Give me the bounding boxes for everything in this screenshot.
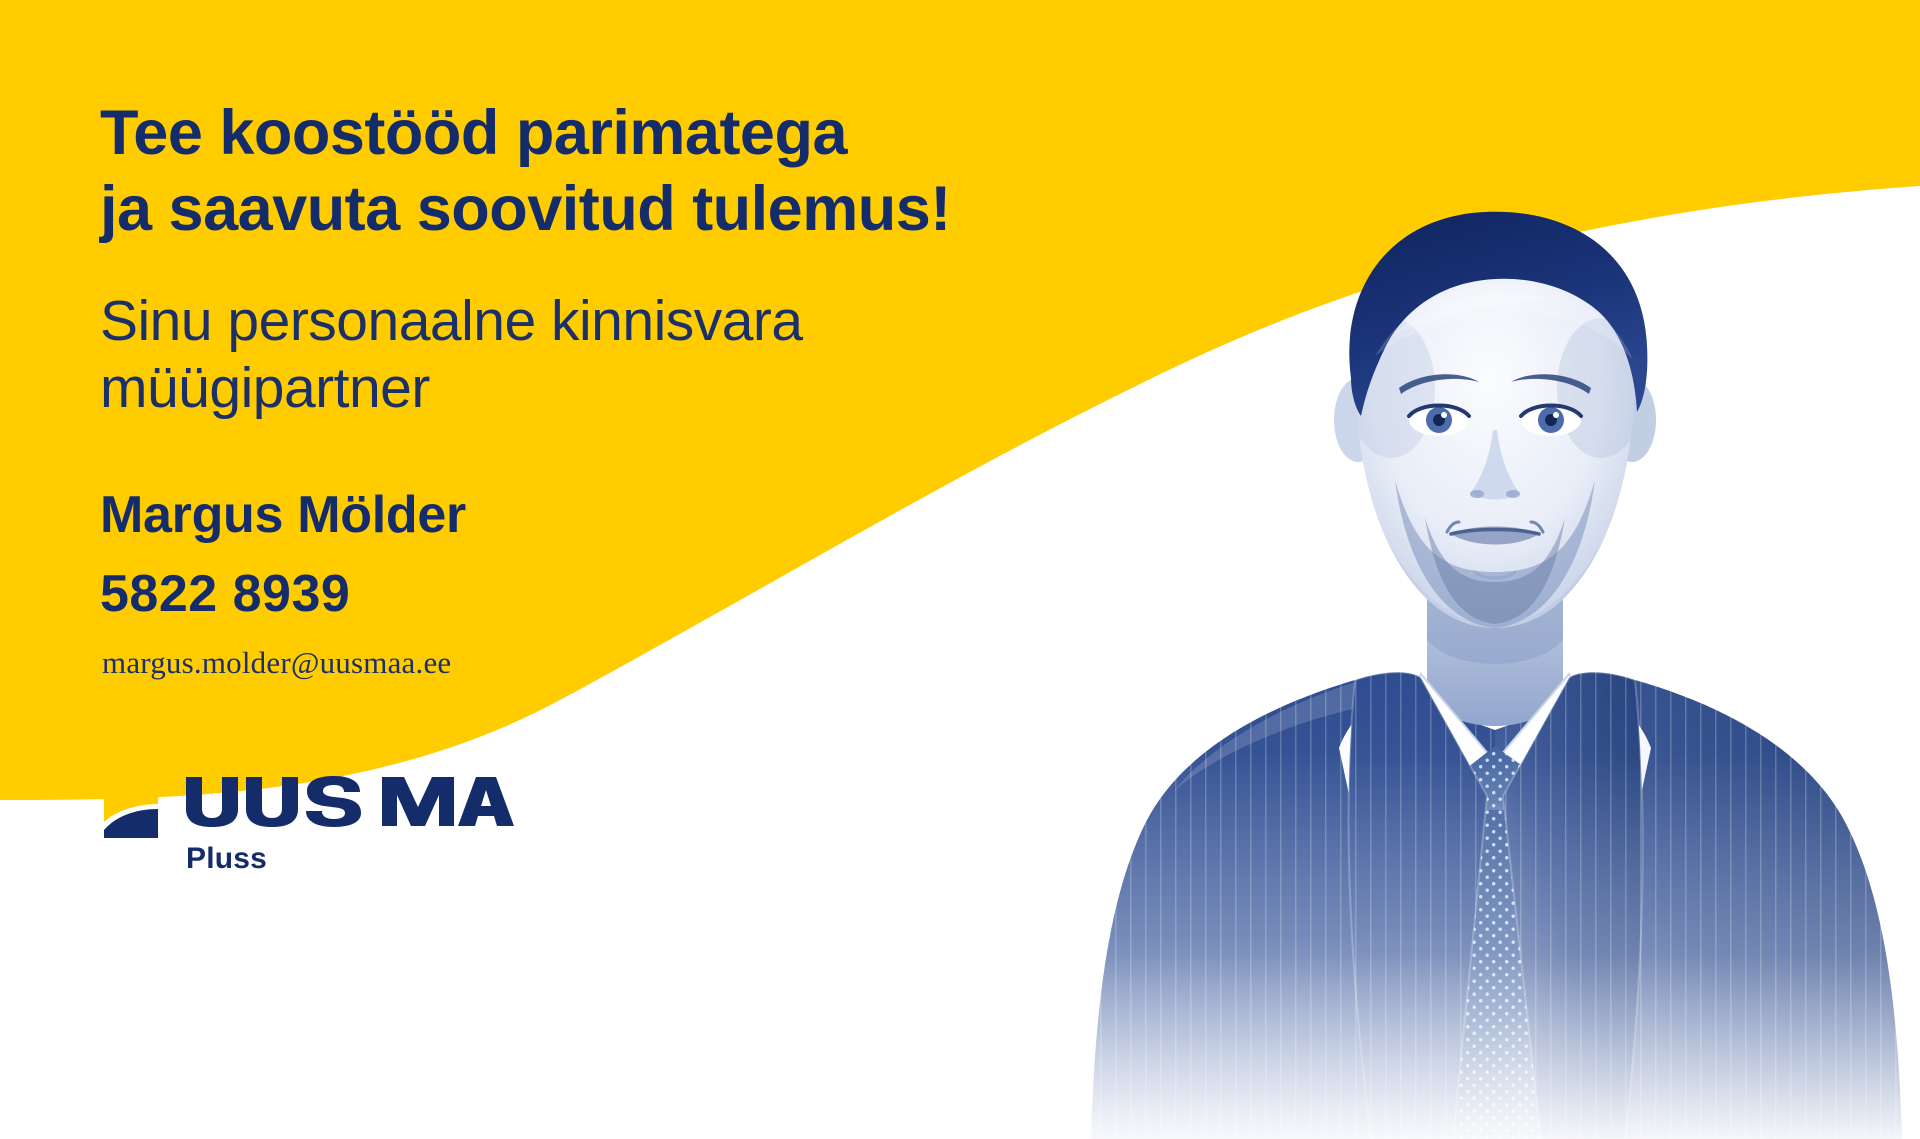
uus-maa-swoosh-mark-icon [100, 778, 162, 840]
agent-name: Margus Mölder [100, 487, 466, 543]
headline: Tee koostööd parimatega ja saavuta soovi… [100, 96, 1100, 247]
subheadline: Sinu personaalne kinnisvara müügipartner [100, 288, 1080, 421]
agent-portrait-photo [1055, 120, 1920, 1139]
logo-sub-label: Pluss [186, 842, 267, 876]
agent-phone-number[interactable]: 5822 8939 [100, 566, 350, 622]
uus-maa-pluss-logo[interactable]: Pluss [100, 778, 520, 888]
advertisement-banner: Tee koostööd parimatega ja saavuta soovi… [0, 0, 1920, 1139]
text-content-column: Tee koostööd parimatega ja saavuta soovi… [100, 0, 1120, 1139]
agent-email-address[interactable]: margus.molder@uusmaa.ee [102, 645, 451, 681]
uus-maa-wordmark [184, 775, 514, 827]
